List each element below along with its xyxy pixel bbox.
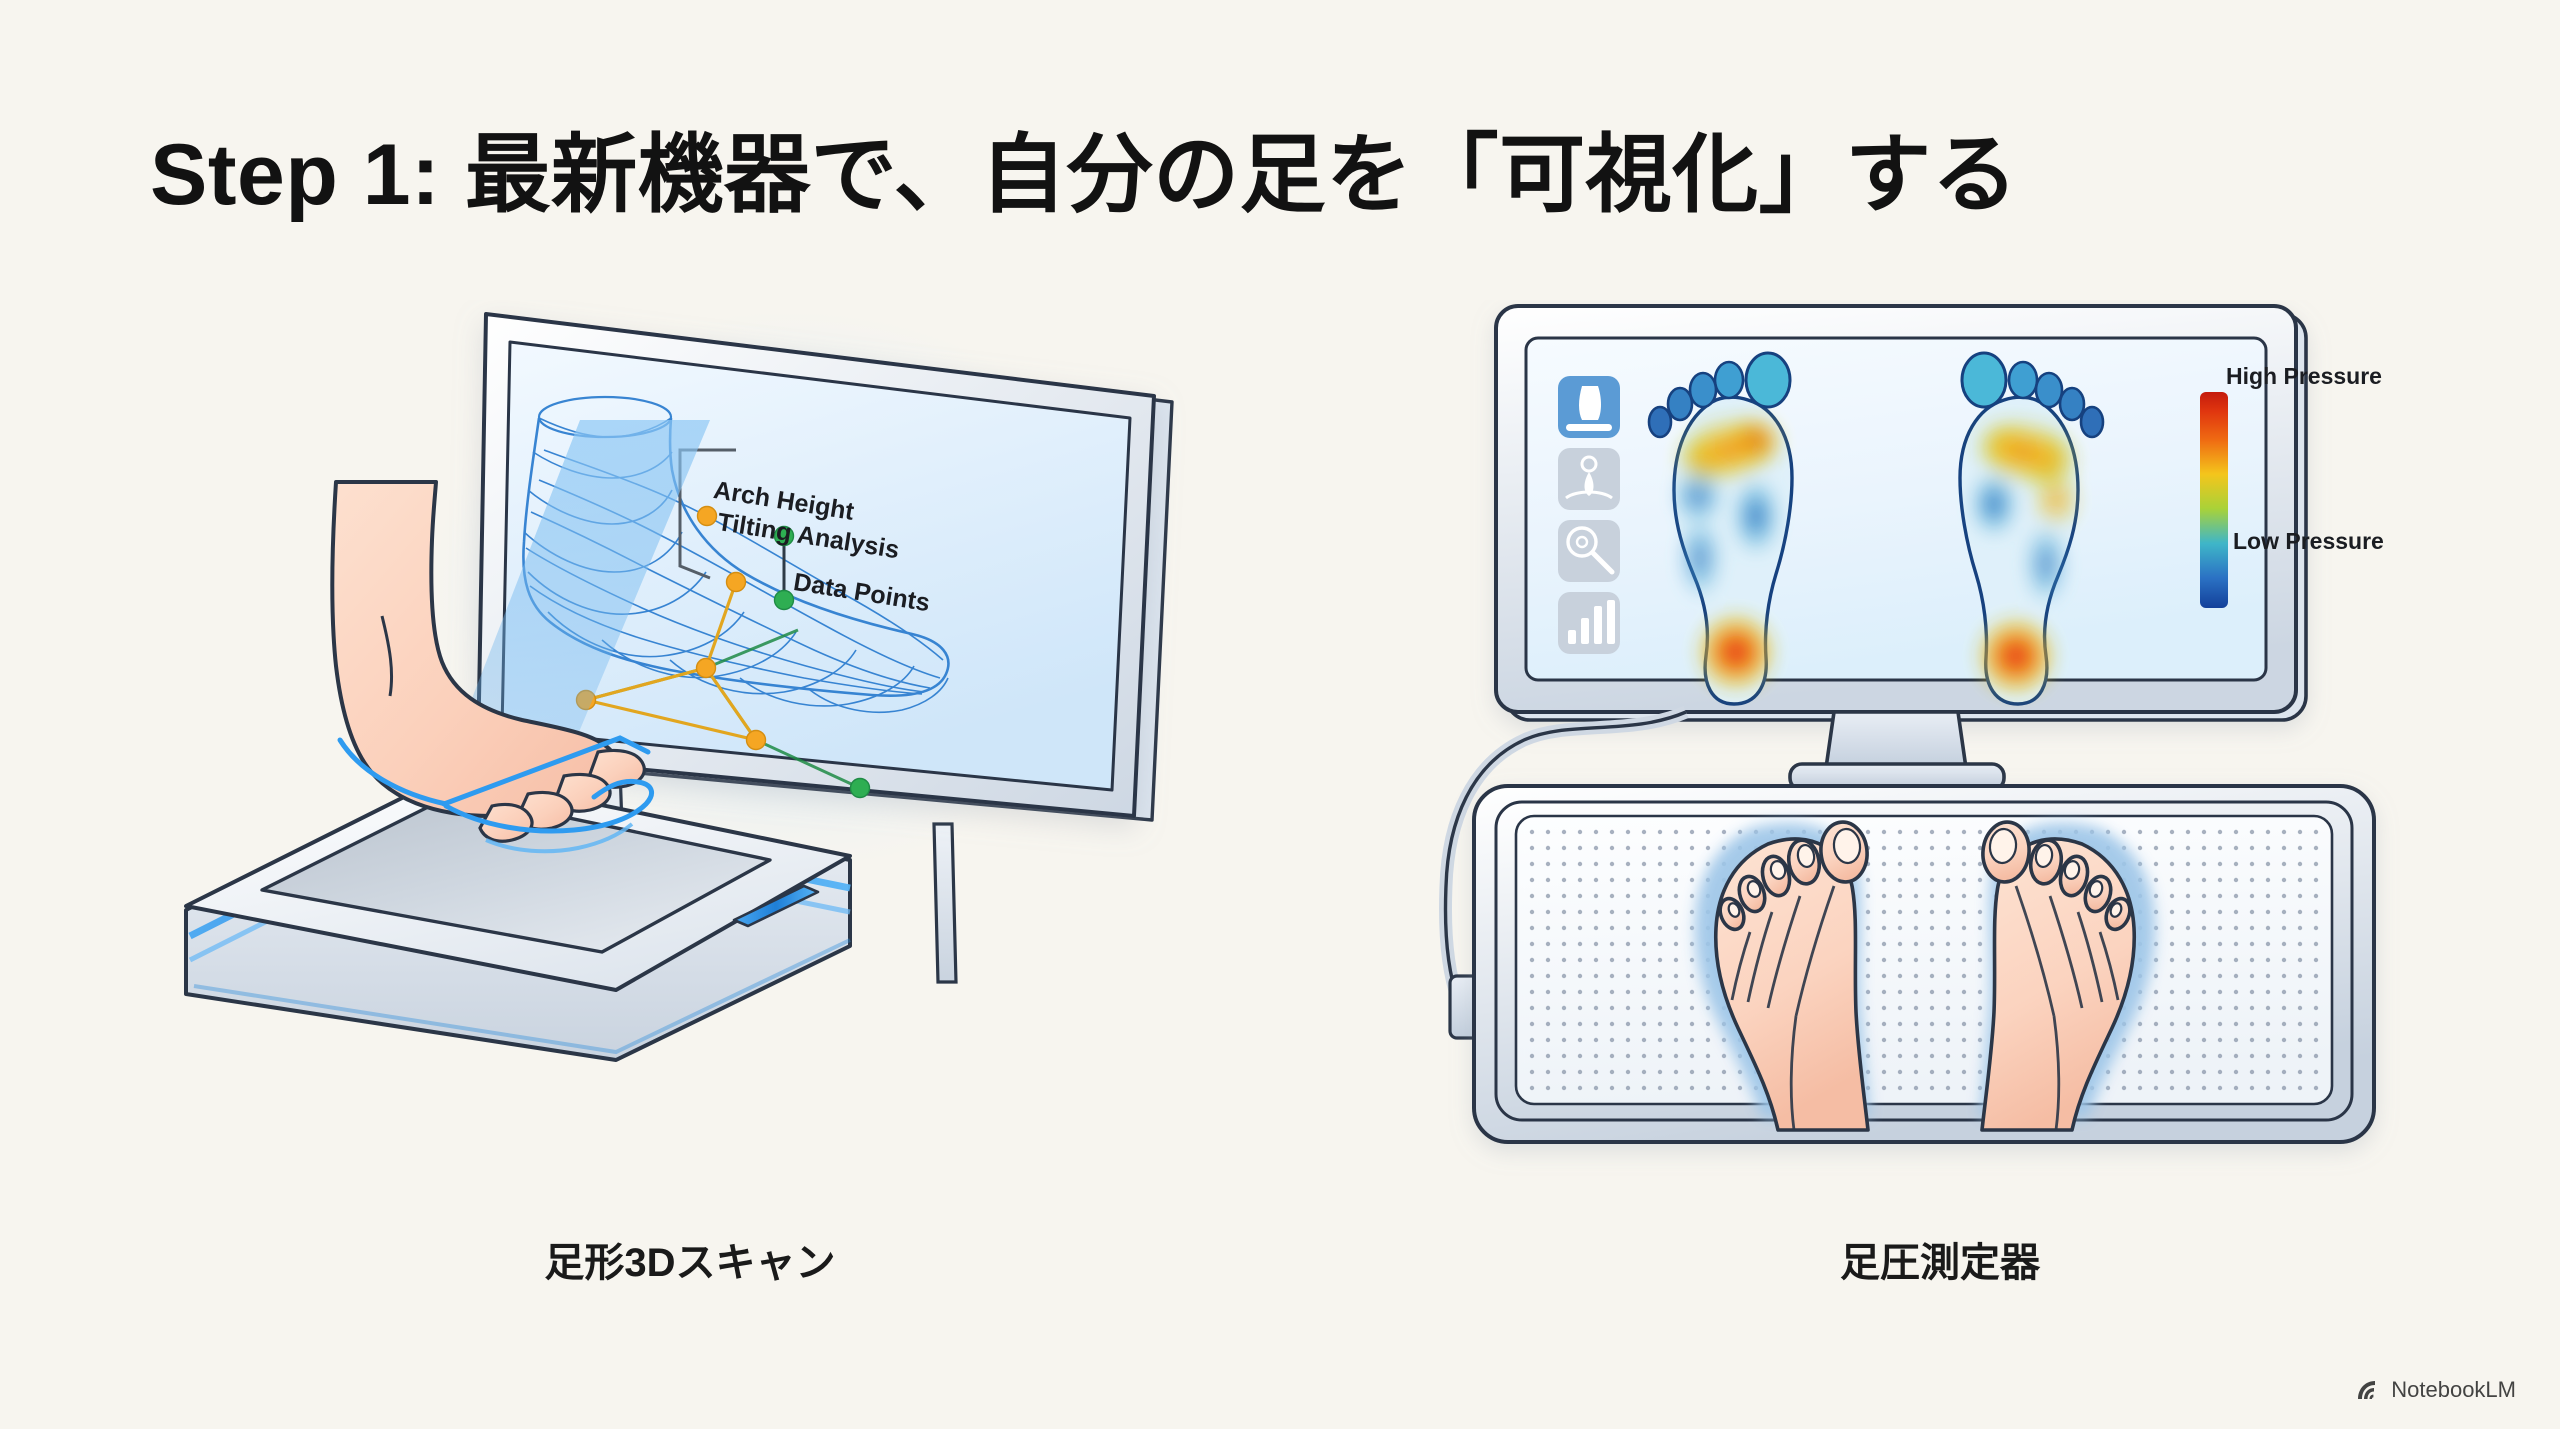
sensor-dot-grid bbox=[1520, 820, 2328, 1100]
monitor-stand-right bbox=[1790, 712, 2004, 790]
person-posture-icon bbox=[1558, 448, 1620, 510]
illustration-pressure-analyzer: High Pressure Low Pressure bbox=[1400, 300, 2480, 1200]
pressure-mat bbox=[1474, 786, 2374, 1142]
bar-chart-icon bbox=[1558, 592, 1620, 654]
panel-foot-3d-scanner: Arch Height Tilting Analysis Data Points… bbox=[150, 300, 1230, 1300]
pressure-colorbar bbox=[2200, 392, 2228, 608]
slide-canvas: Step 1: 最新機器で、自分の足を「可視化」する bbox=[0, 0, 2560, 1429]
notebooklm-label: NotebookLM bbox=[2391, 1377, 2516, 1403]
pressure-monitor bbox=[1496, 306, 2306, 720]
illustration-3d-scanner: Arch Height Tilting Analysis Data Points bbox=[150, 300, 1230, 1200]
foot-stand-icon bbox=[1558, 376, 1620, 438]
notebooklm-spiral-icon bbox=[2355, 1377, 2381, 1403]
page-title: Step 1: 最新機器で、自分の足を「可視化」する bbox=[150, 128, 2018, 223]
magnifier-icon bbox=[1558, 520, 1620, 582]
caption-foot-pressure-analyzer: 足圧測定器 bbox=[1400, 1230, 2480, 1288]
panel-foot-pressure-analyzer: High Pressure Low Pressure 足圧測定器 bbox=[1400, 300, 2480, 1300]
caption-foot-3d-scanner: 足形3Dスキャン bbox=[150, 1230, 1230, 1288]
notebooklm-watermark: NotebookLM bbox=[2355, 1377, 2516, 1403]
